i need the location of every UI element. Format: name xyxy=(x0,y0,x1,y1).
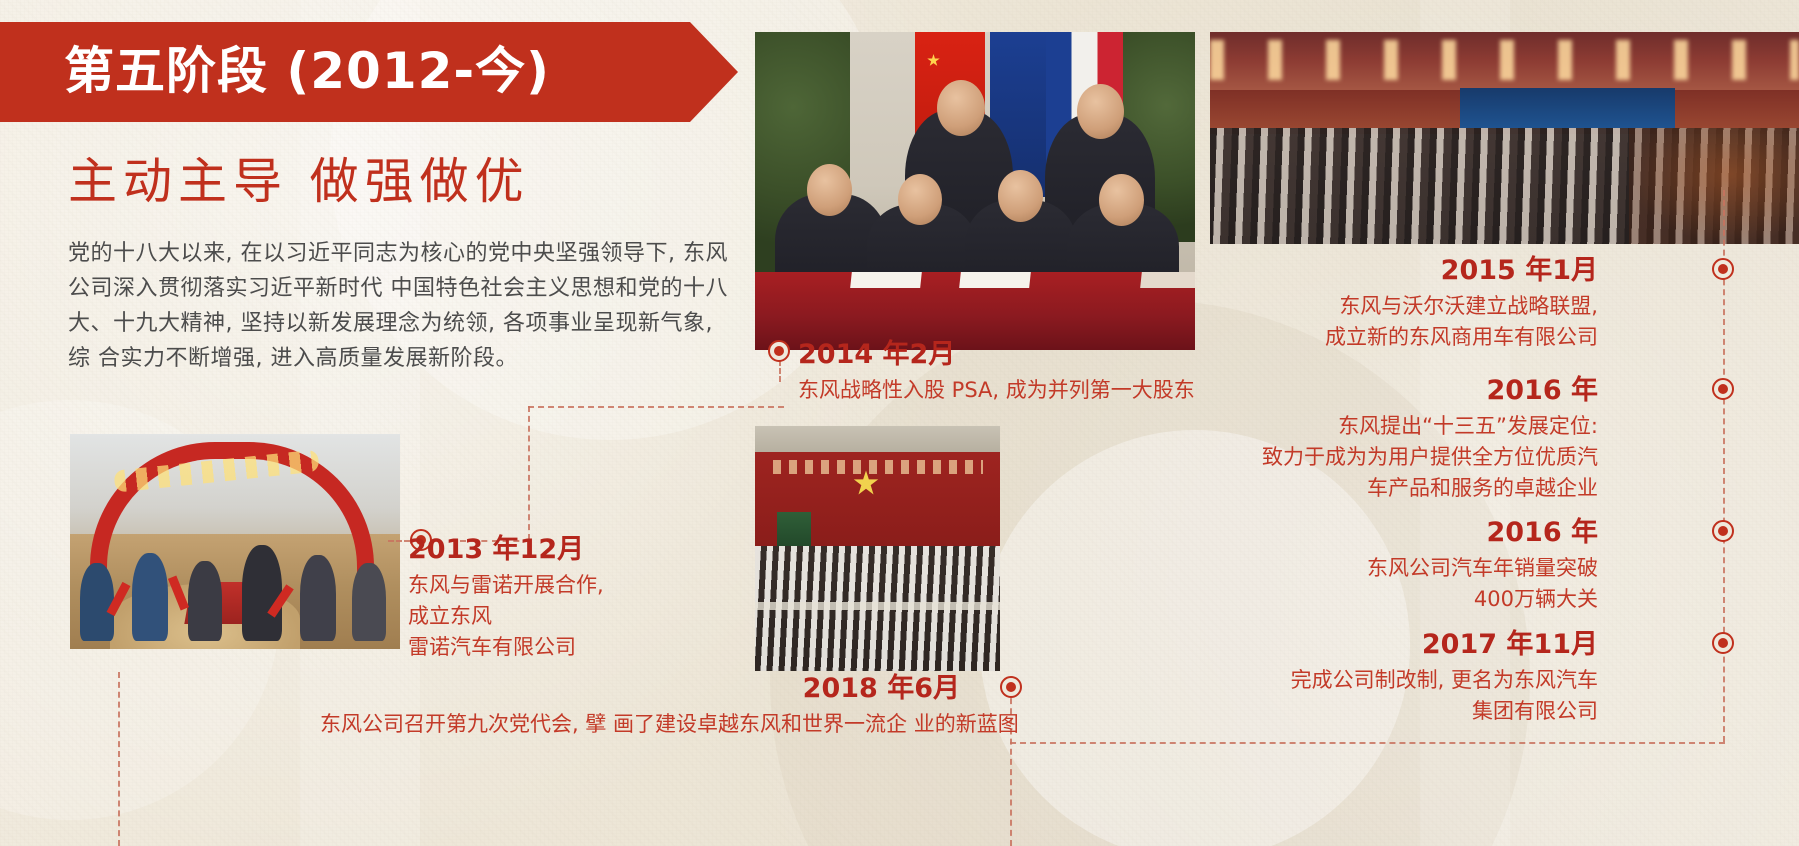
caption-2016a-year: 2016 年 xyxy=(1168,374,1598,408)
connector-bottom-left xyxy=(118,672,120,846)
caption-2014-year: 2014 年2月 xyxy=(798,338,1195,372)
photo-party-congress xyxy=(755,426,1000,671)
caption-2016a-desc-line1: 东风提出“十三五”发展定位: xyxy=(1168,411,1598,442)
caption-2015-desc-line2: 成立新的东风商用车有限公司 xyxy=(1188,322,1598,353)
caption-2016-positioning: 2016 年 东风提出“十三五”发展定位: 致力于成为为用户提供全方位优质汽 车… xyxy=(1168,374,1598,504)
marker-2017[interactable] xyxy=(1712,632,1734,654)
marker-2014[interactable] xyxy=(768,340,790,362)
photo-renault-groundbreaking xyxy=(70,434,400,649)
caption-2015: 2015 年1月 东风与沃尔沃建立战略联盟, 成立新的东风商用车有限公司 xyxy=(1188,254,1598,353)
caption-2016b-desc-line1: 东风公司汽车年销量突破 xyxy=(1188,553,1598,584)
caption-2013-desc-line2: 成立东风 xyxy=(408,601,604,632)
caption-2017-desc-line2: 集团有限公司 xyxy=(1168,696,1598,727)
marker-2015[interactable] xyxy=(1712,258,1734,280)
caption-2018: 2018 年6月 东风公司召开第九次党代会, 擘 画了建设卓越东风和世界一流企 … xyxy=(320,672,960,740)
connector-2013-top xyxy=(528,406,784,408)
marker-2018[interactable] xyxy=(1000,676,1022,698)
caption-2017-desc-line1: 完成公司制改制, 更名为东风汽车 xyxy=(1168,665,1598,696)
caption-2013: 2013 年12月 东风与雷诺开展合作, 成立东风 雷诺汽车有限公司 xyxy=(408,533,604,663)
caption-2015-year: 2015 年1月 xyxy=(1188,254,1598,288)
photo-psa-signing xyxy=(755,32,1195,350)
timeline-rail-bottom xyxy=(1010,742,1725,744)
photo-conference-hall xyxy=(1210,32,1799,244)
connector-2013-stub xyxy=(388,540,410,542)
caption-2016a-desc-line2: 致力于成为为用户提供全方位优质汽 xyxy=(1168,442,1598,473)
caption-2017-year: 2017 年11月 xyxy=(1168,628,1598,662)
caption-2016b-desc-line2: 400万辆大关 xyxy=(1188,584,1598,615)
caption-2016a-desc-line3: 车产品和服务的卓越企业 xyxy=(1168,473,1598,504)
caption-2016-sales: 2016 年 东风公司汽车年销量突破 400万辆大关 xyxy=(1188,516,1598,615)
page-title: 第五阶段 (2012-今) xyxy=(64,40,550,102)
caption-2017: 2017 年11月 完成公司制改制, 更名为东风汽车 集团有限公司 xyxy=(1168,628,1598,727)
marker-2016a[interactable] xyxy=(1712,378,1734,400)
caption-2013-desc-line3: 雷诺汽车有限公司 xyxy=(408,632,604,663)
marker-2016b[interactable] xyxy=(1712,520,1734,542)
stage-banner-arrow xyxy=(690,22,738,122)
caption-2018-desc: 东风公司召开第九次党代会, 擘 画了建设卓越东风和世界一流企 业的新蓝图 xyxy=(320,709,960,740)
caption-2014: 2014 年2月 东风战略性入股 PSA, 成为并列第一大股东 xyxy=(798,338,1195,406)
connector-2013-elbow xyxy=(528,406,530,540)
subtitle: 主动主导 做强做优 xyxy=(68,152,530,212)
caption-2018-year: 2018 年6月 xyxy=(320,672,960,706)
caption-2013-year: 2013 年12月 xyxy=(408,533,604,567)
infographic-poster: 第五阶段 (2012-今) 主动主导 做强做优 党的十八大以来, 在以习近平同志… xyxy=(0,0,1799,846)
caption-2014-desc: 东风战略性入股 PSA, 成为并列第一大股东 xyxy=(798,375,1195,406)
caption-2015-desc-line1: 东风与沃尔沃建立战略联盟, xyxy=(1188,291,1598,322)
intro-paragraph: 党的十八大以来, 在以习近平同志为核心的党中央坚强领导下, 东风公司深入贯彻落实… xyxy=(68,236,728,376)
caption-2016b-year: 2016 年 xyxy=(1188,516,1598,550)
caption-2013-desc-line1: 东风与雷诺开展合作, xyxy=(408,570,604,601)
